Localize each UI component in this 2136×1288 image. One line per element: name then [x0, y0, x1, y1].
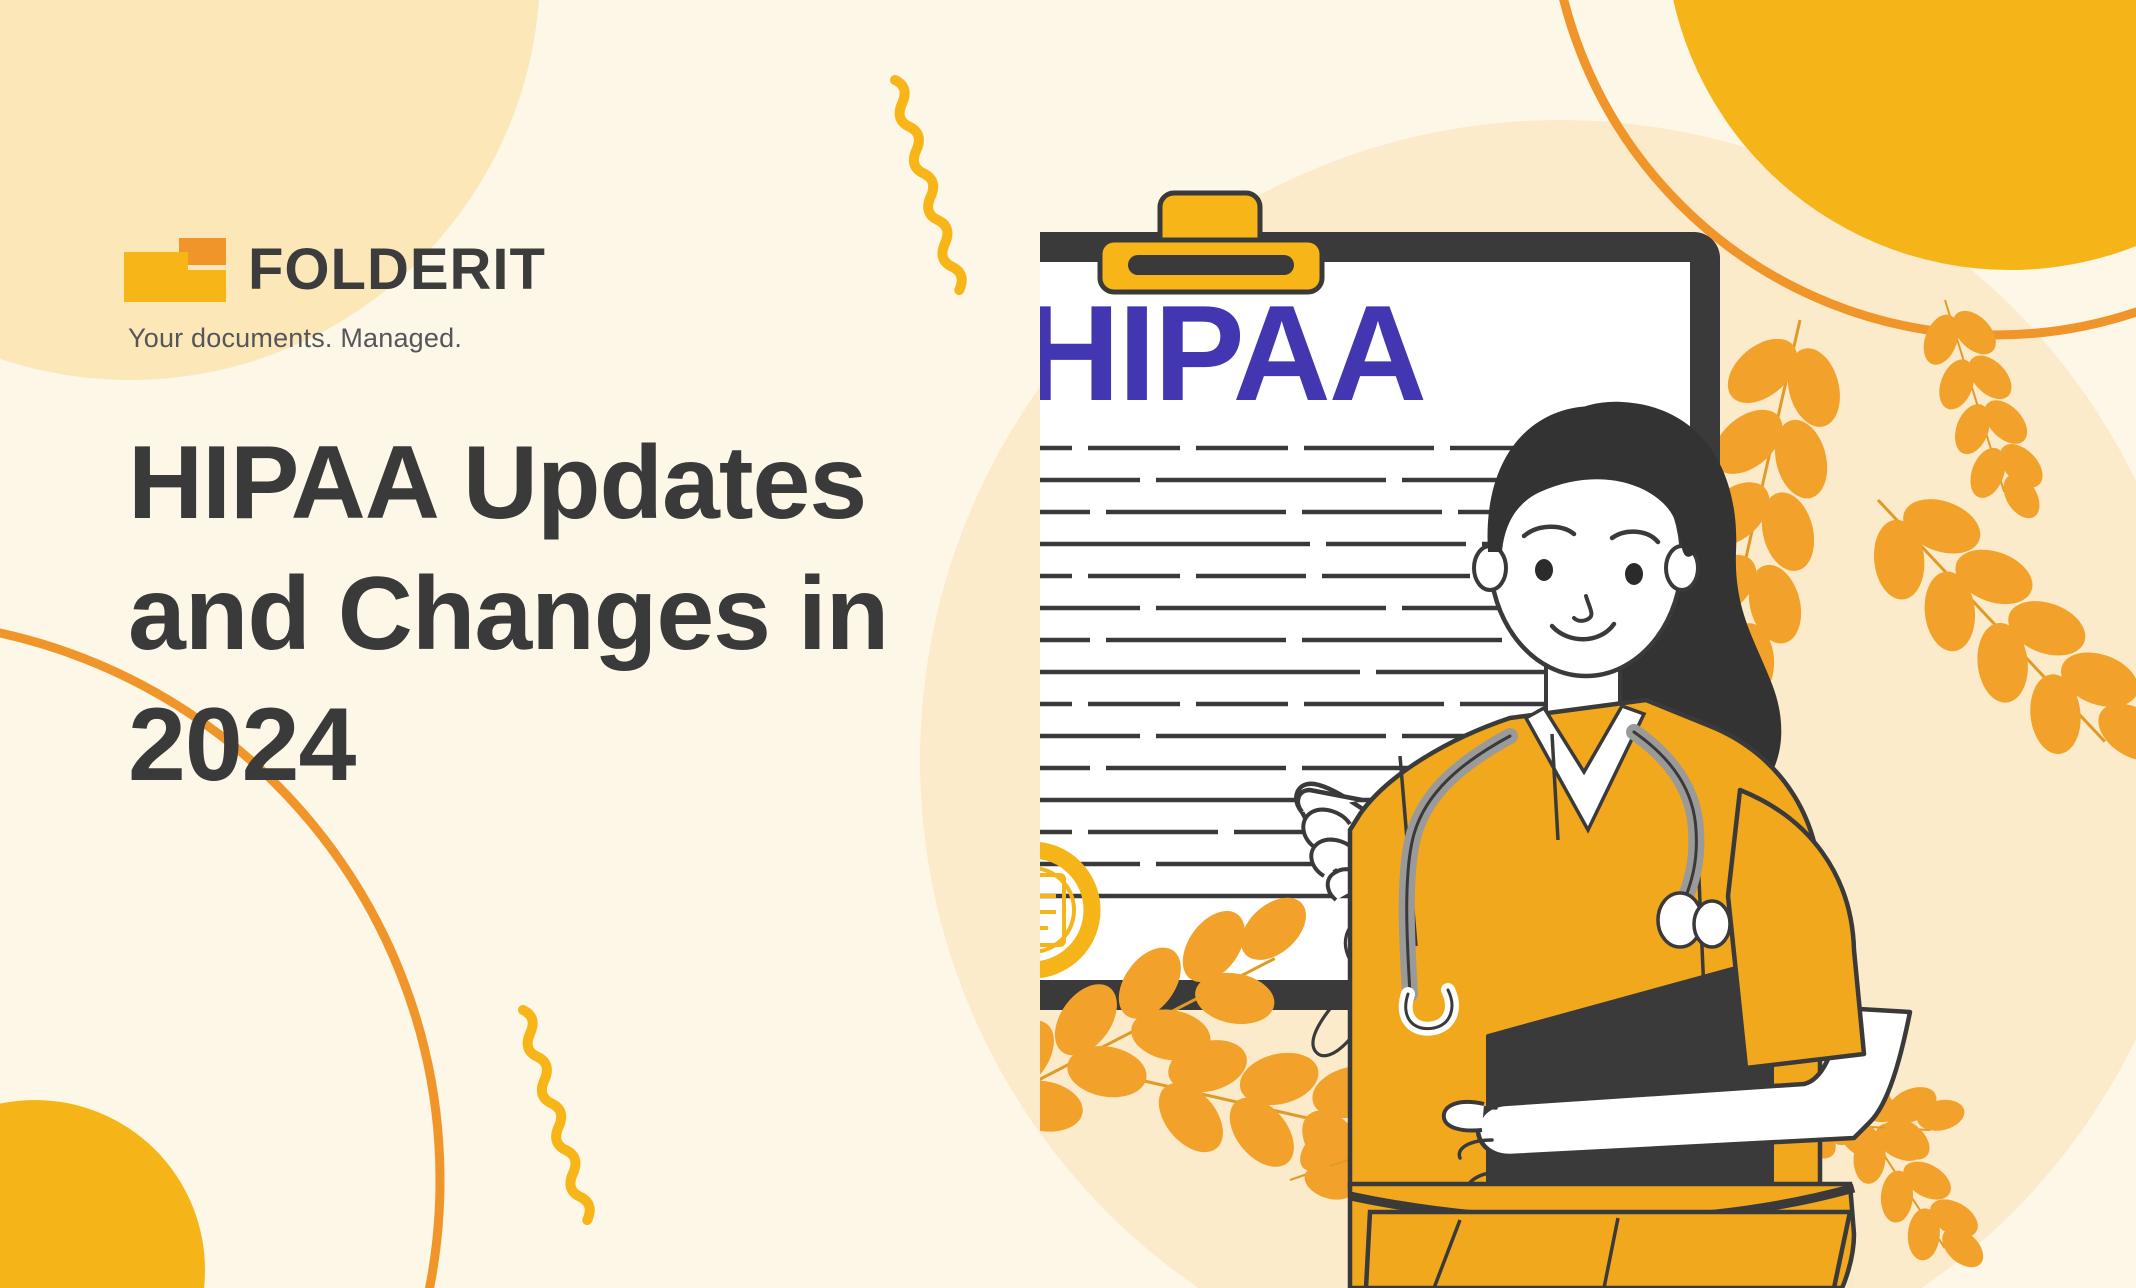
- brand-tagline: Your documents. Managed.: [128, 323, 546, 354]
- page-title: HIPAA Updates and Changes in 2024: [128, 418, 1128, 811]
- headline-line-1: HIPAA Updates: [128, 418, 1128, 549]
- clipboard-title: HIPAA: [1040, 277, 1425, 429]
- headline-line-3: 2024: [128, 680, 1128, 811]
- hipaa-banner: FOLDERIT Your documents. Managed. HIPAA …: [0, 0, 2136, 1288]
- logo-wordmark: FOLDERIT: [248, 241, 546, 299]
- scrub-sleeve: [1728, 790, 1864, 1068]
- nurse-with-hipaa-clipboard-illustration: HIPAA: [1040, 0, 2136, 1288]
- headline-line-2: and Changes in: [128, 549, 1128, 680]
- folder-icon: [124, 238, 226, 302]
- brand-block: FOLDERIT Your documents. Managed.: [124, 238, 546, 354]
